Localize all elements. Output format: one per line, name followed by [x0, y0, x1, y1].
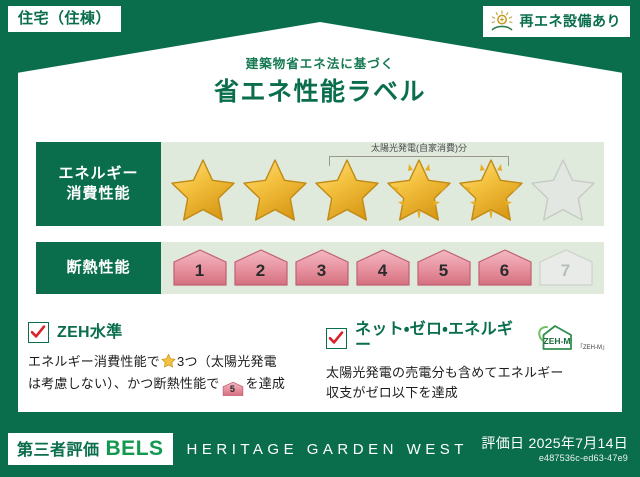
bels-japanese-label: 第三者評価	[17, 443, 100, 459]
insulation-performance-label-box: 断熱性能	[36, 242, 161, 294]
footer-bar: 第三者評価 BELS HERITAGE GARDEN WEST 評価日 2025…	[0, 421, 640, 477]
criterion-text-line1: 太陽光発電の売電分も含めてエネルギー	[326, 365, 564, 380]
star-4-solar	[384, 156, 454, 222]
building-name: HERITAGE GARDEN WEST	[187, 441, 482, 458]
criterion-text-part3: を達成	[246, 376, 286, 391]
evaluation-date: 評価日 2025年7月14日	[481, 435, 628, 452]
inline-star-icon	[161, 353, 176, 374]
insulation-level-number: 5	[439, 262, 448, 288]
insulation-level-number: 3	[317, 262, 326, 288]
insulation-level-3: 3	[293, 248, 351, 288]
insulation-level-number: 6	[500, 262, 509, 288]
energy-performance-label: 住宅（住棟） 再エネ設備あり 建築物省エネ法に基づく 省エネ性	[0, 0, 640, 477]
insulation-level-number: 4	[378, 262, 387, 288]
solar-annotation-caption: 太陽光発電(自家消費)分	[329, 144, 509, 153]
energy-stars-area: 太陽光発電(自家消費)分	[161, 142, 604, 226]
insulation-level-number: 1	[195, 262, 204, 288]
star-1	[168, 156, 238, 222]
criterion-text-part2: は考慮しない）、かつ断熱性能で	[28, 376, 220, 391]
criterion-zeh-standard: ZEH水準 エネルギー消費性能で3つ（太陽光発電は考慮しない）、かつ断熱性能で5…	[28, 322, 310, 397]
evaluation-info: 評価日 2025年7月14日 e487536c-ed63-47e9	[481, 435, 628, 464]
criterion-text-line2: 収支がゼロ以下を達成	[326, 385, 458, 400]
insulation-name: 断熱性能	[66, 258, 130, 278]
insulation-level-4: 4	[354, 248, 412, 288]
inline-insulation-badge: 5	[222, 381, 244, 397]
evaluation-id: e487536c-ed63-47e9	[481, 453, 628, 463]
zeh-m-logo-caption: 「ZEH-M」	[577, 345, 608, 353]
checkbox-checked-icon	[326, 328, 347, 349]
insulation-level-scale: 1 2 3 4 5	[171, 248, 595, 288]
zeh-m-house-icon: ZEH-M	[535, 323, 575, 353]
insulation-level-number: 2	[256, 262, 265, 288]
energy-name-line1: エネルギー	[58, 164, 138, 184]
document-type-tag: 住宅（住棟）	[8, 6, 121, 32]
criterion-description: 太陽光発電の売電分も含めてエネルギー収支がゼロ以下を達成	[326, 363, 608, 403]
label-subtitle: 建築物省エネ法に基づく	[0, 58, 640, 71]
insulation-level-7: 7	[537, 248, 595, 288]
insulation-level-5: 5	[415, 248, 473, 288]
renewable-badge-label: 再エネ設備あり	[520, 14, 622, 28]
bels-logo-text: BELS	[106, 438, 164, 459]
star-2	[240, 156, 310, 222]
inline-level-number: 5	[222, 381, 244, 397]
star-5-solar	[456, 156, 526, 222]
title-block: 建築物省エネ法に基づく 省エネ性能ラベル	[0, 58, 640, 105]
insulation-level-2: 2	[232, 248, 290, 288]
criterion-description: エネルギー消費性能で3つ（太陽光発電は考慮しない）、かつ断熱性能で5を達成	[28, 352, 310, 397]
insulation-performance-row: 断熱性能 1 2 3	[36, 242, 604, 294]
solar-sun-icon	[489, 10, 515, 32]
insulation-level-number: 7	[561, 262, 570, 288]
criterion-text-part1: エネルギー消費性能で	[28, 354, 160, 369]
star-6-empty	[528, 156, 598, 222]
criterion-header: ネット・ゼロ・エネルギー ZEH-M 「ZEH-M」	[326, 322, 608, 354]
energy-performance-row: エネルギー 消費性能 太陽光発電(自家消費)分	[36, 142, 604, 226]
star-3	[312, 156, 382, 222]
checkbox-checked-icon	[28, 322, 49, 343]
criterion-header: ZEH水準	[28, 322, 310, 343]
energy-name-line2: 消費性能	[66, 184, 130, 204]
energy-performance-label-box: エネルギー 消費性能	[36, 142, 161, 226]
criterion-title: ZEH水準	[57, 325, 123, 341]
criterion-title: ネット・ゼロ・エネルギー	[355, 322, 526, 354]
insulation-level-6: 6	[476, 248, 534, 288]
label-title: 省エネ性能ラベル	[0, 80, 640, 105]
criterion-net-zero-energy: ネット・ゼロ・エネルギー ZEH-M 「ZEH-M」 太陽光発電の売電分も含めて…	[326, 322, 608, 403]
renewable-equipment-badge: 再エネ設備あり	[483, 6, 631, 37]
bels-certification-mark: 第三者評価 BELS	[8, 433, 173, 465]
criterion-text-stars: 3つ（太陽光発電	[177, 354, 277, 369]
svg-text:ZEH-M: ZEH-M	[544, 336, 571, 346]
insulation-levels-area: 1 2 3 4 5	[161, 242, 604, 294]
insulation-level-1: 1	[171, 248, 229, 288]
zeh-m-logo: ZEH-M 「ZEH-M」	[535, 323, 608, 353]
